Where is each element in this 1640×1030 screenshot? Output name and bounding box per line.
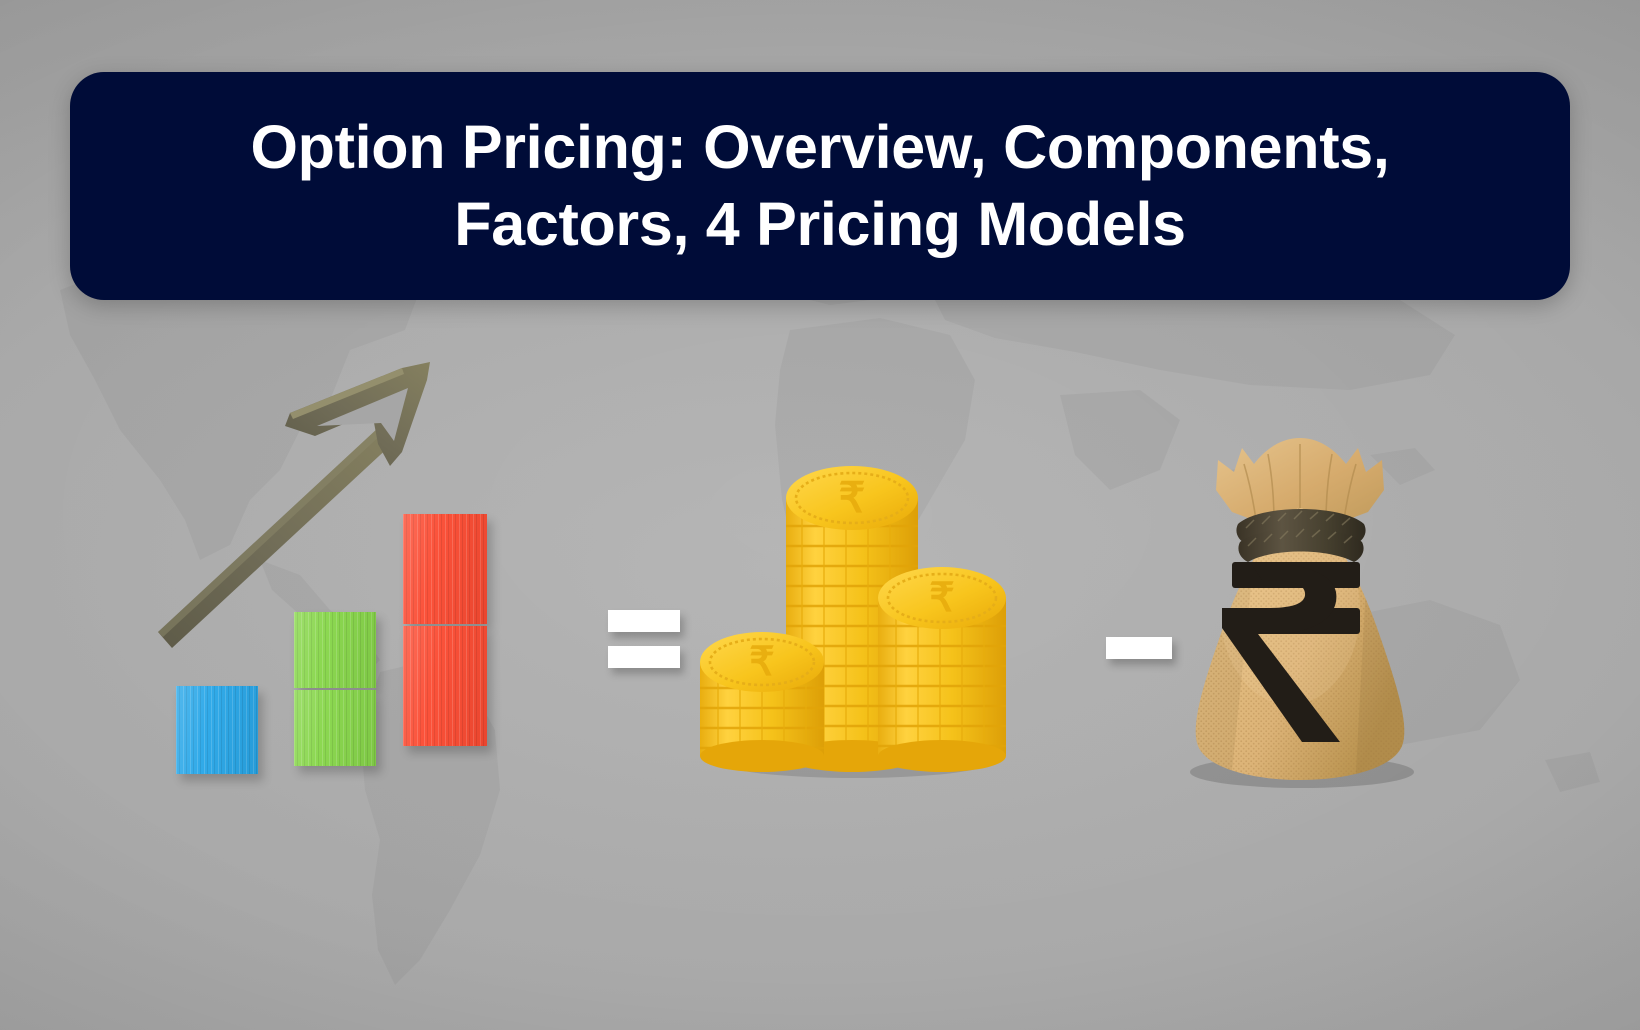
equals-sign-bar-bottom	[608, 646, 680, 668]
bar-2-block-bottom	[294, 690, 376, 766]
bar-2-block-top	[294, 612, 376, 688]
bar-3-block-bottom	[403, 626, 487, 746]
svg-text:₹: ₹	[839, 474, 866, 521]
coin-stack-right: ₹	[878, 567, 1006, 772]
coin-stack-left: ₹	[700, 632, 824, 772]
block-sheen	[403, 514, 487, 624]
block-sheen	[176, 686, 258, 774]
svg-text:₹: ₹	[929, 576, 954, 620]
block-sheen	[403, 626, 487, 746]
svg-text:₹: ₹	[749, 640, 774, 684]
equals-sign-bar-top	[608, 610, 680, 632]
rupee-money-bag-icon	[1150, 420, 1450, 790]
rupee-coin-stacks-icon: ₹ ₹	[690, 450, 1020, 780]
block-sheen	[294, 690, 376, 766]
bar-1-block-1	[176, 686, 258, 774]
bar-3-block-top	[403, 514, 487, 624]
poster-canvas: Option Pricing: Overview, Components, Fa…	[0, 0, 1640, 1030]
block-sheen	[294, 612, 376, 688]
